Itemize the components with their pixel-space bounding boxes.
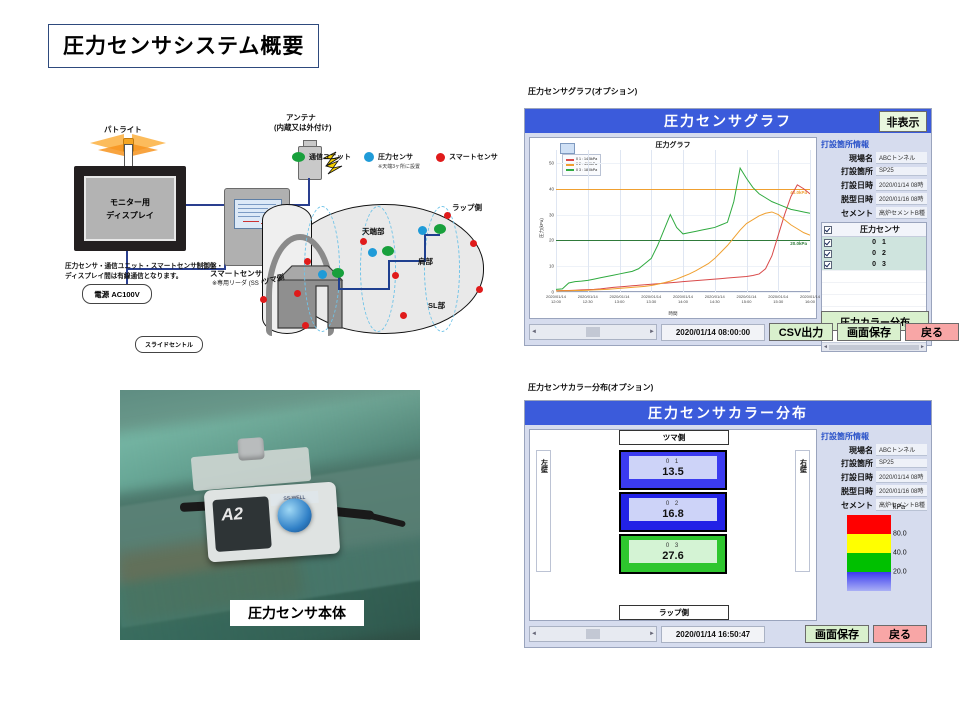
- dist-legend-segment: 80.0: [847, 515, 891, 534]
- graph-timestamp: 2020/01/14 08:00:00: [661, 324, 765, 341]
- tunnel-label-shoulder: 肩部: [418, 256, 433, 267]
- graph-info-value: 高炉セメントB種: [876, 207, 927, 219]
- tunnel-label-sl: SL部: [428, 300, 445, 311]
- sensor-housing: A2 SS-WELL: [204, 481, 341, 562]
- dist-info-key: 現場名: [821, 445, 873, 456]
- legend-sublabel-1: ※天端3ヶ所に設置: [378, 163, 420, 170]
- graph-scroll-left-icon[interactable]: ◄: [531, 329, 537, 335]
- dist-timestamp: 2020/01/14 16:50:47: [661, 626, 765, 643]
- dist-info-key: 打設日時: [821, 472, 873, 483]
- dist-legend-tick: 20.0: [893, 569, 907, 576]
- sensor-scroll-left-icon[interactable]: ◄: [823, 344, 828, 350]
- tunnel-wire-3: [388, 260, 390, 290]
- chart-y-tick: 20: [549, 238, 554, 243]
- dist-info-value: 2020/01/14 08時: [876, 471, 927, 483]
- chart-x-tick: 2020/01/1413:30: [641, 294, 661, 304]
- monitor-screen: モニター用 ディスプレイ: [84, 176, 176, 241]
- chart-gridline-h: [556, 292, 810, 293]
- chart-plot: 0 1 : 14.5kPa0 2 : 41.0kPa0 3 : 18.0kPa …: [556, 150, 810, 292]
- patlite-label: パトライト: [104, 124, 142, 135]
- graph-info-row: 脱型日時2020/01/16 08時: [821, 193, 927, 205]
- dist-bottom-bar: ◄ ► 2020/01/14 16:50:47 画面保存 戻る: [529, 625, 927, 643]
- smart-sensor-3: [302, 322, 309, 329]
- dist-info-value: 2020/01/16 08時: [876, 485, 927, 497]
- smart-sensor-4: [360, 238, 367, 245]
- graph-info-rows: 現場名ABCトンネル打設箇所SP25打設日時2020/01/14 08時脱型日時…: [821, 152, 927, 219]
- tunnel-label-lap-side: ラップ側: [452, 202, 482, 213]
- antenna-label-line2: (内蔵又は外付け): [274, 122, 332, 133]
- graph-bottom-bar: ◄ ► 2020/01/14 08:00:00 CSV出力 画面保存 戻る: [529, 323, 927, 341]
- legend-label-1: 圧力センサ: [378, 152, 413, 162]
- dist-time-scrollbar[interactable]: ◄ ►: [529, 626, 657, 642]
- dist-info-key: 脱型日時: [821, 486, 873, 497]
- smart-sensor-9: [476, 286, 483, 293]
- patlite-beam-left-inner-icon: [98, 144, 124, 156]
- pressure-sensor-1: [318, 270, 327, 279]
- sensor-scroll-right-icon[interactable]: ►: [920, 344, 925, 350]
- sensor-list-header-row: 圧力センサ: [822, 223, 926, 237]
- dist-sensor-cell[interactable]: 0 216.8: [619, 492, 727, 532]
- smart-sensor-dot-icon: [436, 153, 445, 162]
- chart-x-tick: 2020/01/1416:00: [800, 294, 820, 304]
- sensor-label: 0 2: [834, 250, 926, 257]
- chart-x-tick: 2020/01/1414:30: [705, 294, 725, 304]
- pressure-graph-screen: 圧力センサグラフ 非表示 圧力グラフ 圧力(kPa) 時間 0 1 : 14.5…: [524, 108, 932, 346]
- dist-info-row: 打設日時2020/01/14 08時: [821, 471, 927, 483]
- graph-info-panel: 打設箇所情報 現場名ABCトンネル打設箇所SP25打設日時2020/01/14 …: [821, 139, 927, 352]
- graph-scroll-right-icon[interactable]: ►: [649, 329, 655, 335]
- csv-export-button[interactable]: CSV出力: [769, 323, 833, 341]
- chart-series-line: [556, 185, 810, 291]
- chart-y-tick: 50: [549, 160, 554, 165]
- monitor-display: モニター用 ディスプレイ: [74, 166, 186, 251]
- slide-centle-label: スライドセントル: [145, 340, 193, 349]
- graph-screen-titlebar: 圧力センサグラフ 非表示: [525, 109, 931, 133]
- dist-info-row: 打設箇所SP25: [821, 458, 927, 469]
- legend-label-0: 通信ユニット: [309, 152, 351, 162]
- dist-screen-titlebar: 圧力センサカラー分布: [525, 401, 931, 425]
- graph-info-key: セメント: [821, 208, 873, 219]
- photo-caption: 圧力センサ本体: [230, 600, 364, 626]
- dist-info-key: 打設箇所: [821, 458, 873, 469]
- chart-x-tick: 2020/01/1412:00: [546, 294, 566, 304]
- sensor-photo: A2 SS-WELL 圧力センサ本体: [120, 390, 420, 640]
- smart-sensor-7: [444, 212, 451, 219]
- dist-back-button[interactable]: 戻る: [873, 625, 927, 643]
- chart-x-tick: 2020/01/1415:30: [768, 294, 788, 304]
- dist-info-row: 現場名ABCトンネル: [821, 444, 927, 456]
- dist-info-value: SP25: [876, 459, 927, 468]
- diagram-note-line2: ディスプレイ間は有線通信となります。: [65, 272, 275, 282]
- smart-sensor-8: [470, 240, 477, 247]
- dist-left-wall: 左壁: [536, 450, 551, 572]
- dist-legend-unit: kPa: [893, 504, 905, 511]
- dist-legend-tick: 40.0: [893, 550, 907, 557]
- tunnel-wire-6: [424, 234, 440, 236]
- sensor-face-panel: A2: [212, 496, 271, 552]
- graph-info-row: セメント高炉セメントB種: [821, 207, 927, 219]
- sensor-label: 0 3: [834, 261, 926, 268]
- legend-item-1: 圧力センサ: [364, 152, 413, 162]
- diagram-legend: 通信ユニット 圧力センサ ※天端3ヶ所に設置 スマートセンサ: [292, 146, 502, 174]
- dist-screen-caption: 圧力センサカラー分布(オプション): [528, 382, 653, 393]
- chart-ylabel: 圧力(kPa): [539, 218, 545, 238]
- smart-sensor-2: [294, 290, 301, 297]
- graph-info-row: 打設箇所SP25: [821, 166, 927, 177]
- sensor-label: 0 1: [834, 239, 926, 246]
- tunnel-illustration: 天端部 肩部 SL部 ラップ側 ツマ側: [256, 194, 506, 354]
- dist-legend-segment: 20.0: [847, 553, 891, 572]
- graph-info-value: ABCトンネル: [876, 152, 927, 164]
- graph-info-heading: 打設箇所情報: [821, 139, 927, 150]
- dist-sensor-cell[interactable]: 0 327.6: [619, 534, 727, 574]
- sensor-list-rows: 0 10 20 3: [822, 237, 926, 270]
- chart-series-layer: [556, 150, 810, 292]
- comm-unit-3: [434, 224, 446, 234]
- diagram-note-line1: 圧力センサ・通信ユニット・スマートセンサ制御盤・: [65, 262, 275, 272]
- pressure-color-distribution-screen: 圧力センサカラー分布 ツマ側 ラップ側 左壁 右壁 0 113.50 216.8…: [524, 400, 932, 648]
- sensor-device-mark: A2: [221, 504, 244, 525]
- dist-legend-tick: 80.0: [893, 531, 907, 538]
- dist-info-row: セメント高炉セメントB種: [821, 499, 927, 511]
- wire-monitor-ctrl: [186, 204, 226, 206]
- smart-sensor-1: [304, 258, 311, 265]
- dist-info-heading: 打設箇所情報: [821, 431, 927, 442]
- sensor-list-row[interactable]: 0 1: [822, 237, 926, 248]
- dist-scroll-left-icon[interactable]: ◄: [531, 631, 537, 637]
- graph-chart-area: 圧力グラフ 圧力(kPa) 時間 0 1 : 14.5kPa0 2 : 41.0…: [529, 137, 817, 319]
- dist-bottom-side-tag: ラップ側: [619, 605, 729, 620]
- chart-x-tick: 2020/01/1414:00: [673, 294, 693, 304]
- smart-sensor-5: [392, 272, 399, 279]
- pressure-sensor-dot-icon: [364, 152, 374, 162]
- slide-centle-callout: スライドセントル: [135, 336, 203, 353]
- graph-screen-title: 圧力センサグラフ: [664, 111, 792, 131]
- chart-gridline-v: [810, 150, 811, 292]
- tunnel-rib-2: [360, 206, 396, 332]
- graph-time-scrollbar[interactable]: ◄ ►: [529, 324, 657, 340]
- dist-top-side-tag: ツマ側: [619, 430, 729, 445]
- dist-right-wall: 右壁: [795, 450, 810, 572]
- dist-cell-value: 16.8: [629, 506, 717, 521]
- sensor-checkbox[interactable]: [822, 261, 834, 269]
- tunnel-wire-2: [338, 288, 390, 290]
- dist-left-wall-label: 左壁: [539, 459, 549, 473]
- graph-info-key: 脱型日時: [821, 194, 873, 205]
- dist-cell-value: 27.6: [629, 548, 717, 563]
- comm-unit-dot-icon: [292, 152, 305, 162]
- sensor-list-row[interactable]: 0 2: [822, 248, 926, 259]
- graph-info-value: SP25: [876, 167, 927, 176]
- tunnel-label-crown: 天端部: [362, 226, 385, 237]
- graph-info-value: 2020/01/14 08時: [876, 179, 927, 191]
- dist-diagram-area: ツマ側 ラップ側 左壁 右壁 0 113.50 216.80 327.6: [529, 429, 817, 621]
- dist-sensor-cell[interactable]: 0 113.5: [619, 450, 727, 490]
- graph-scroll-thumb[interactable]: [586, 327, 600, 337]
- sensor-scroll-thumb[interactable]: [829, 345, 919, 350]
- dist-scroll-right-icon[interactable]: ►: [649, 631, 655, 637]
- monitor-label-line2: ディスプレイ: [106, 210, 153, 221]
- dist-scroll-thumb[interactable]: [586, 629, 600, 639]
- chart-x-tick: 2020/01/1415:00: [736, 294, 756, 304]
- power-supply-box: 電源 AC100V: [82, 284, 152, 304]
- sensor-checkbox[interactable]: [822, 239, 834, 247]
- dist-save-screen-button[interactable]: 画面保存: [805, 625, 869, 643]
- dist-cell-value: 13.5: [629, 464, 717, 479]
- graph-info-key: 現場名: [821, 153, 873, 164]
- sensor-list-header-label: 圧力センサ: [834, 224, 926, 235]
- graph-screen-caption: 圧力センサグラフ(オプション): [528, 86, 637, 97]
- power-label: 電源 AC100V: [94, 289, 139, 300]
- dist-info-row: 脱型日時2020/01/16 08時: [821, 485, 927, 497]
- sensor-list-row[interactable]: 0 3: [822, 259, 926, 270]
- pressure-sensor-2: [368, 248, 377, 257]
- patlite-beam-right-inner-icon: [132, 144, 158, 156]
- graph-info-value: 2020/01/16 08時: [876, 193, 927, 205]
- sensor-bolt-icon: [237, 437, 264, 461]
- legend-item-2: スマートセンサ: [436, 152, 498, 162]
- smart-sensor-6: [400, 312, 407, 319]
- chart-x-tick: 2020/01/1412:30: [578, 294, 598, 304]
- legend-item-0: 通信ユニット: [292, 152, 351, 162]
- dist-right-wall-label: 右壁: [798, 459, 808, 473]
- graph-info-row: 打設日時2020/01/14 08時: [821, 179, 927, 191]
- photo-caption-text: 圧力センサ本体: [248, 603, 346, 623]
- sensor-checkbox[interactable]: [822, 250, 834, 258]
- monitor-label-line1: モニター用: [110, 197, 150, 208]
- chart-y-tick: 30: [549, 212, 554, 217]
- smart-sensor-10: [260, 296, 267, 303]
- system-diagram: パトライト モニター用 ディスプレイ 電源 AC100V: [60, 88, 500, 368]
- chart-x-tick: 2020/01/1413:00: [609, 294, 629, 304]
- dist-info-panel: 打設箇所情報 現場名ABCトンネル打設箇所SP25打設日時2020/01/14 …: [821, 431, 927, 513]
- chart-series-line: [556, 168, 810, 289]
- comm-unit-2: [382, 246, 394, 256]
- graph-info-key: 打設箇所: [821, 166, 873, 177]
- dist-legend-segments: 80.040.020.0: [847, 515, 891, 591]
- sensor-list-scrollbar[interactable]: ◄ ►: [822, 342, 926, 351]
- dist-color-legend: kPa 80.040.020.0: [847, 515, 891, 591]
- chart-y-tick: 40: [549, 186, 554, 191]
- slide-canvas: 圧力センサシステム概要 パトライト モニター用 ディスプレイ 電源 AC100V: [0, 0, 960, 720]
- dist-legend-segment: 40.0: [847, 534, 891, 553]
- chart-xlabel: 時間: [530, 311, 816, 317]
- dist-legend-segment: [847, 572, 891, 591]
- dist-screen-title: 圧力センサカラー分布: [648, 403, 808, 423]
- graph-info-key: 打設日時: [821, 180, 873, 191]
- sensor-select-all-checkbox[interactable]: [822, 226, 834, 234]
- graph-info-row: 現場名ABCトンネル: [821, 152, 927, 164]
- hide-button[interactable]: 非表示: [879, 111, 927, 132]
- pressure-sensor-3: [418, 226, 427, 235]
- graph-save-screen-button[interactable]: 画面保存: [837, 323, 901, 341]
- graph-back-button[interactable]: 戻る: [905, 323, 959, 341]
- page-title: 圧力センサシステム概要: [48, 24, 319, 68]
- chart-y-tick: 10: [549, 264, 554, 269]
- legend-label-2: スマートセンサ: [449, 152, 498, 162]
- diagram-note: 圧力センサ・通信ユニット・スマートセンサ制御盤・ ディスプレイ間は有線通信となり…: [65, 262, 275, 282]
- comm-unit-1: [332, 268, 344, 278]
- dist-info-rows: 現場名ABCトンネル打設箇所SP25打設日時2020/01/14 08時脱型日時…: [821, 444, 927, 511]
- dist-info-value: ABCトンネル: [876, 444, 927, 456]
- dist-info-key: セメント: [821, 500, 873, 511]
